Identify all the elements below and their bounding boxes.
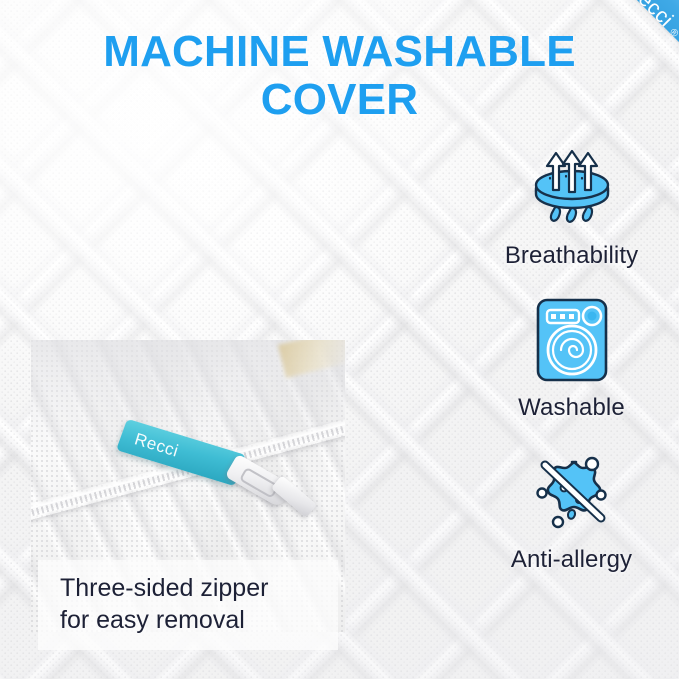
anti-allergy-germ-icon: [524, 446, 620, 538]
feature-label-breathability: Breathability: [505, 242, 638, 270]
zipper-tab-brand-text: Recci: [132, 429, 181, 461]
washing-machine-icon: [524, 294, 620, 386]
feature-label-washable: Washable: [518, 394, 625, 422]
feature-item-breathability: Breathability: [464, 142, 679, 270]
caption-line-1: Three-sided zipper: [60, 572, 324, 604]
title-line-2: COVER: [0, 76, 679, 124]
photo-caption: Three-sided zipper for easy removal: [38, 560, 338, 650]
breathability-icon: [524, 142, 620, 234]
feature-item-washable: Washable: [464, 294, 679, 422]
page-title: MACHINE WASHABLE COVER: [0, 28, 679, 123]
feature-list: Breathability Washable: [464, 142, 679, 598]
title-line-1: MACHINE WASHABLE: [0, 28, 679, 76]
product-feature-image: Recci ® MACHINE WASHABLE COVER: [0, 0, 679, 679]
caption-line-2: for easy removal: [60, 604, 324, 636]
feature-item-anti-allergy: Anti-allergy: [464, 446, 679, 574]
feature-label-anti-allergy: Anti-allergy: [511, 546, 632, 574]
